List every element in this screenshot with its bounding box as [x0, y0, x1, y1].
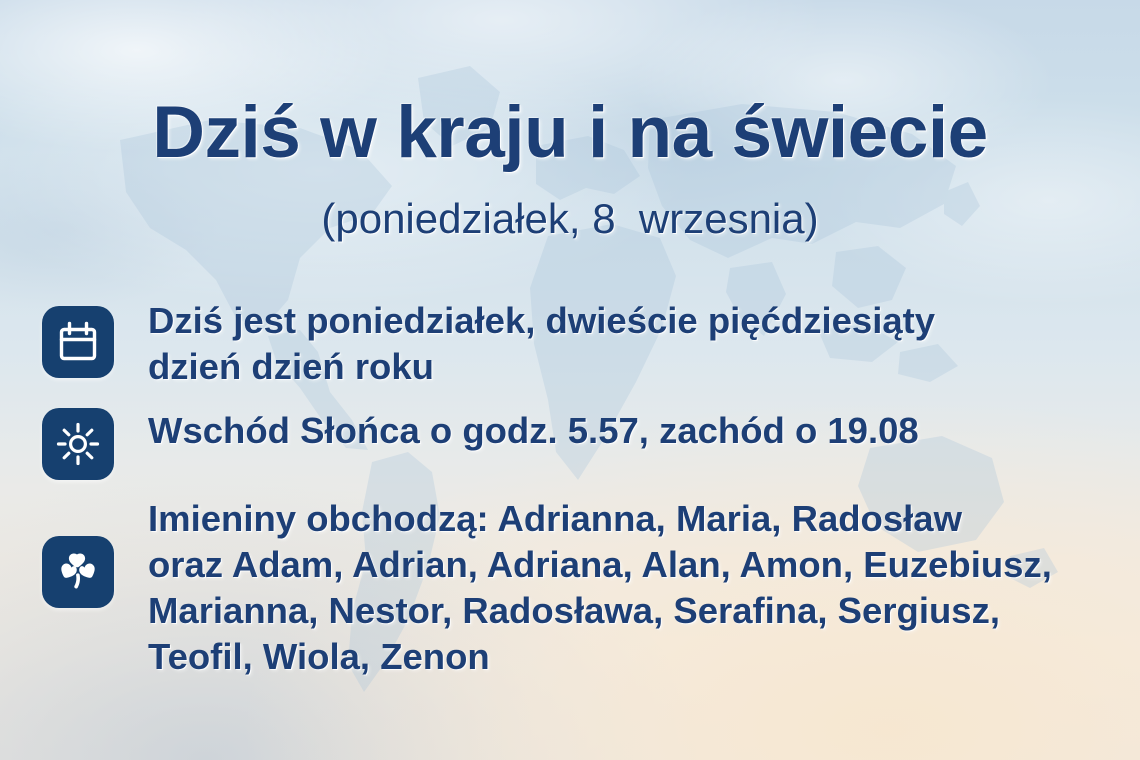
text-line: dzień dzień roku: [148, 344, 935, 390]
page-subtitle: (poniedziałek, 8 wrzesnia): [0, 196, 1140, 242]
text-line: Dziś jest poniedziałek, dwieście pięćdzi…: [148, 298, 935, 344]
text-line: Imieniny obchodzą: Adrianna, Maria, Rado…: [148, 496, 1052, 542]
list-item: Wschód Słońca o godz. 5.57, zachód o 19.…: [42, 406, 1140, 480]
sun-icon: [42, 408, 114, 480]
clover-icon: [42, 536, 114, 608]
text-line: oraz Adam, Adrian, Adriana, Alan, Amon, …: [148, 542, 1052, 588]
text-line: Wschód Słońca o godz. 5.57, zachód o 19.…: [148, 408, 919, 454]
list-item-text: Wschód Słońca o godz. 5.57, zachód o 19.…: [148, 406, 919, 454]
page-title: Dziś w kraju i na świecie: [0, 96, 1140, 169]
list-item-text: Imieniny obchodzą: Adrianna, Maria, Rado…: [148, 494, 1052, 680]
text-line: Teofil, Wiola, Zenon: [148, 634, 1052, 680]
list-item: Imieniny obchodzą: Adrianna, Maria, Rado…: [42, 494, 1140, 680]
text-line: Marianna, Nestor, Radosława, Serafina, S…: [148, 588, 1052, 634]
calendar-icon: [42, 306, 114, 378]
info-rows: Dziś jest poniedziałek, dwieście pięćdzi…: [0, 296, 1140, 680]
infographic-card: Dziś w kraju i na świecie (poniedziałek,…: [0, 0, 1140, 760]
list-item-text: Dziś jest poniedziałek, dwieście pięćdzi…: [148, 296, 935, 390]
list-item: Dziś jest poniedziałek, dwieście pięćdzi…: [42, 296, 1140, 390]
